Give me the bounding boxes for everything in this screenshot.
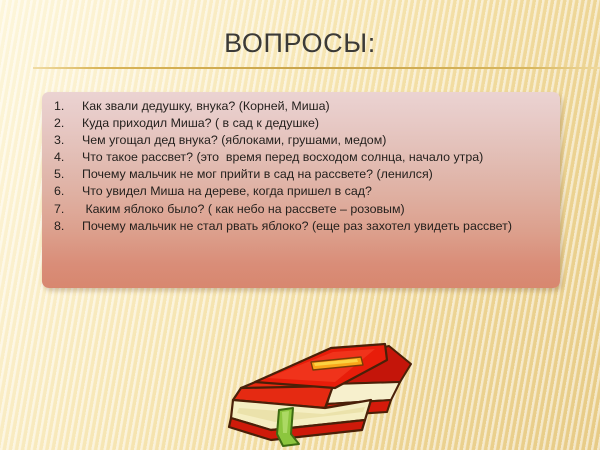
page-title: Вопросы: [0,26,600,60]
title-block: Вопросы: [0,26,600,74]
slide-canvas: Вопросы: Как звали дедушку, внука? (Корн… [0,0,600,450]
questions-list: Как звали дедушку, внука? (Корней, Миша)… [50,98,548,234]
list-item: Чем угощал дед внука? (яблоками, грушами… [80,132,548,149]
list-item: Каким яблоко было? ( как небо на рассвет… [80,201,548,218]
list-item: Как звали дедушку, внука? (Корней, Миша) [80,98,548,115]
title-divider-rule [33,67,600,69]
books-illustration [215,338,415,450]
list-item: Почему мальчик не стал рвать яблоко? (ещ… [80,218,548,235]
questions-panel: Как звали дедушку, внука? (Корней, Миша)… [42,92,560,288]
list-item: Что увидел Миша на дереве, когда пришел … [80,183,548,200]
list-item: Куда приходил Миша? ( в сад к дедушке) [80,115,548,132]
list-item: Что такое рассвет? (это время перед восх… [80,149,548,166]
list-item: Почему мальчик не мог прийти в сад на ра… [80,166,548,183]
